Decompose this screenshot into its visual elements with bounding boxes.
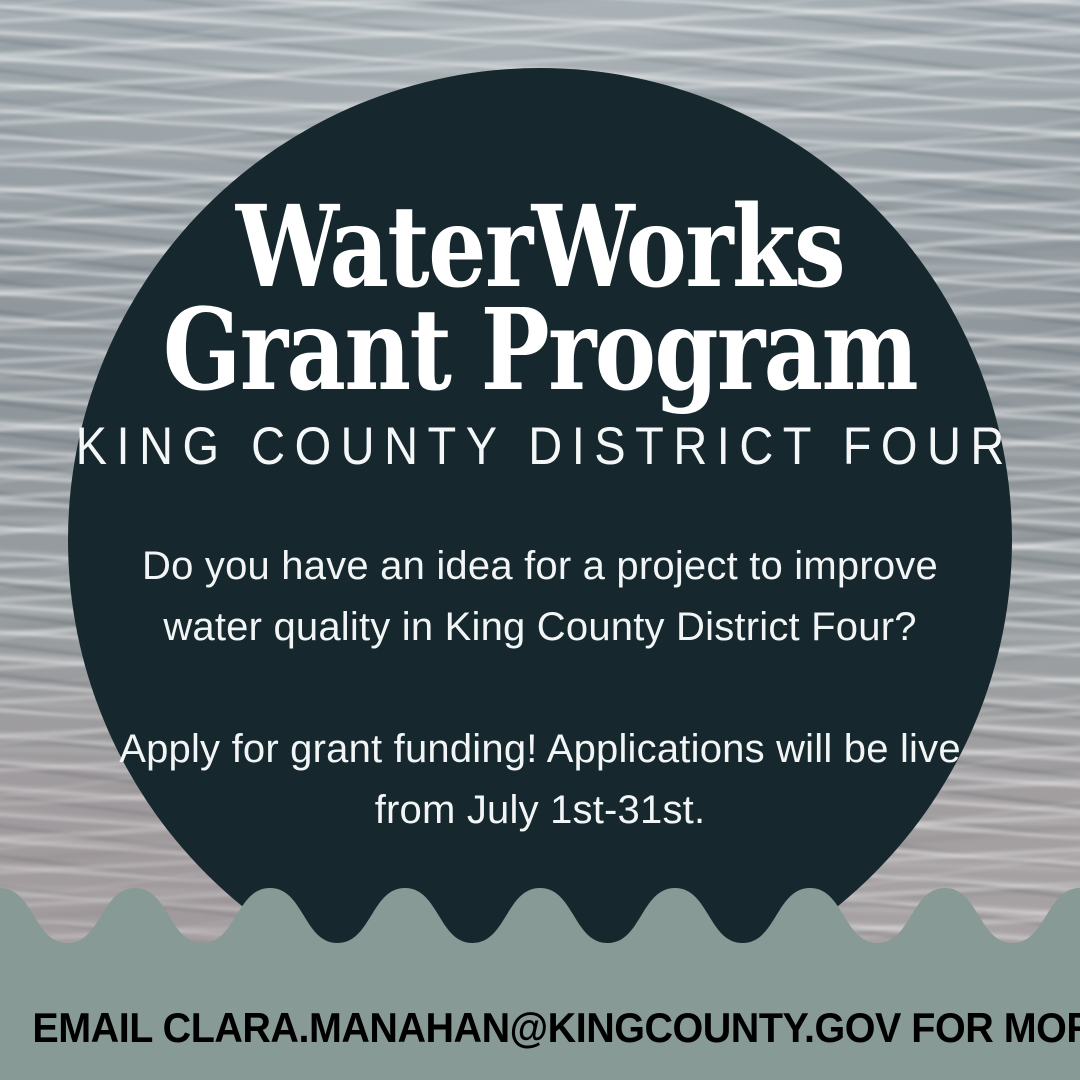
page-title: WaterWorks Grant Program bbox=[97, 196, 983, 402]
body-paragraph-2: Apply for grant funding! Applications wi… bbox=[112, 719, 968, 841]
body-copy: Do you have an idea for a project to imp… bbox=[112, 536, 968, 841]
paragraph-spacer bbox=[112, 658, 968, 719]
title-line-2: Grant Program bbox=[97, 299, 983, 402]
title-line-1: WaterWorks bbox=[97, 196, 983, 299]
poster-canvas: WaterWorks Grant Program KING COUNTY DIS… bbox=[0, 0, 1080, 1080]
body-paragraph-1: Do you have an idea for a project to imp… bbox=[112, 536, 968, 658]
page-subtitle: KING COUNTY DISTRICT FOUR bbox=[0, 415, 1080, 477]
contact-banner: EMAIL CLARA.MANAHAN@KINGCOUNTY.GOV FOR M… bbox=[32, 1004, 1047, 1052]
